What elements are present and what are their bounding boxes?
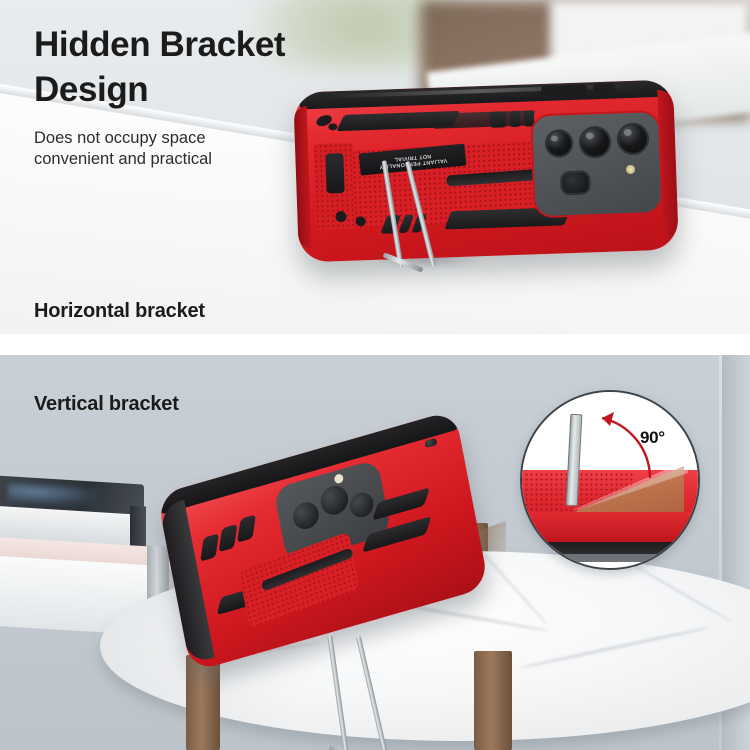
kickstand-foot xyxy=(383,252,424,272)
case-vent xyxy=(490,111,507,128)
book-spine xyxy=(130,506,146,549)
product-image: VALIANT PERSONALITY NOT TRIVIAL xyxy=(0,0,750,750)
camera-lens xyxy=(616,122,649,155)
camera-module xyxy=(530,110,664,218)
caption-vertical: Vertical bracket xyxy=(34,393,179,416)
kickstand-vertical xyxy=(330,635,400,750)
kickstand-leg xyxy=(356,636,389,750)
angle-arrow-icon xyxy=(522,392,700,570)
kickstand-foot xyxy=(328,745,377,750)
table-leg-right xyxy=(474,651,512,750)
case-vent xyxy=(237,514,256,542)
caption-horizontal: Horizontal bracket xyxy=(34,300,205,323)
camera-flash xyxy=(626,165,635,174)
camera-lens xyxy=(545,129,574,158)
case-vent xyxy=(219,524,238,552)
case-vent xyxy=(444,208,551,230)
camera-sensor xyxy=(560,170,591,195)
volume-button xyxy=(541,84,587,97)
marble-vein xyxy=(628,561,733,623)
camera-lens xyxy=(291,499,321,532)
marble-vein xyxy=(522,626,708,668)
case-vent xyxy=(510,111,521,127)
kickstand-leg xyxy=(327,635,349,750)
case-vent xyxy=(433,110,536,129)
panel-divider xyxy=(0,334,750,348)
camera-lens xyxy=(348,490,376,520)
camera-lens xyxy=(318,483,350,518)
kickstand-horizontal xyxy=(384,160,448,272)
angle-callout: 90° xyxy=(520,390,700,570)
camera-lens xyxy=(579,126,612,159)
case-vent xyxy=(200,533,219,561)
top-panel: VALIANT PERSONALITY NOT TRIVIAL xyxy=(0,0,750,348)
bottom-panel: Vertical bracket xyxy=(0,355,750,750)
angle-label: 90° xyxy=(640,428,665,448)
case-hole xyxy=(424,438,437,448)
camera-flash xyxy=(334,473,344,484)
page-title: Hidden Bracket Design xyxy=(34,22,454,112)
kickstand-leg xyxy=(405,161,436,267)
page-subtitle: Does not occupy space convenient and pra… xyxy=(34,128,334,169)
power-button xyxy=(593,83,615,95)
